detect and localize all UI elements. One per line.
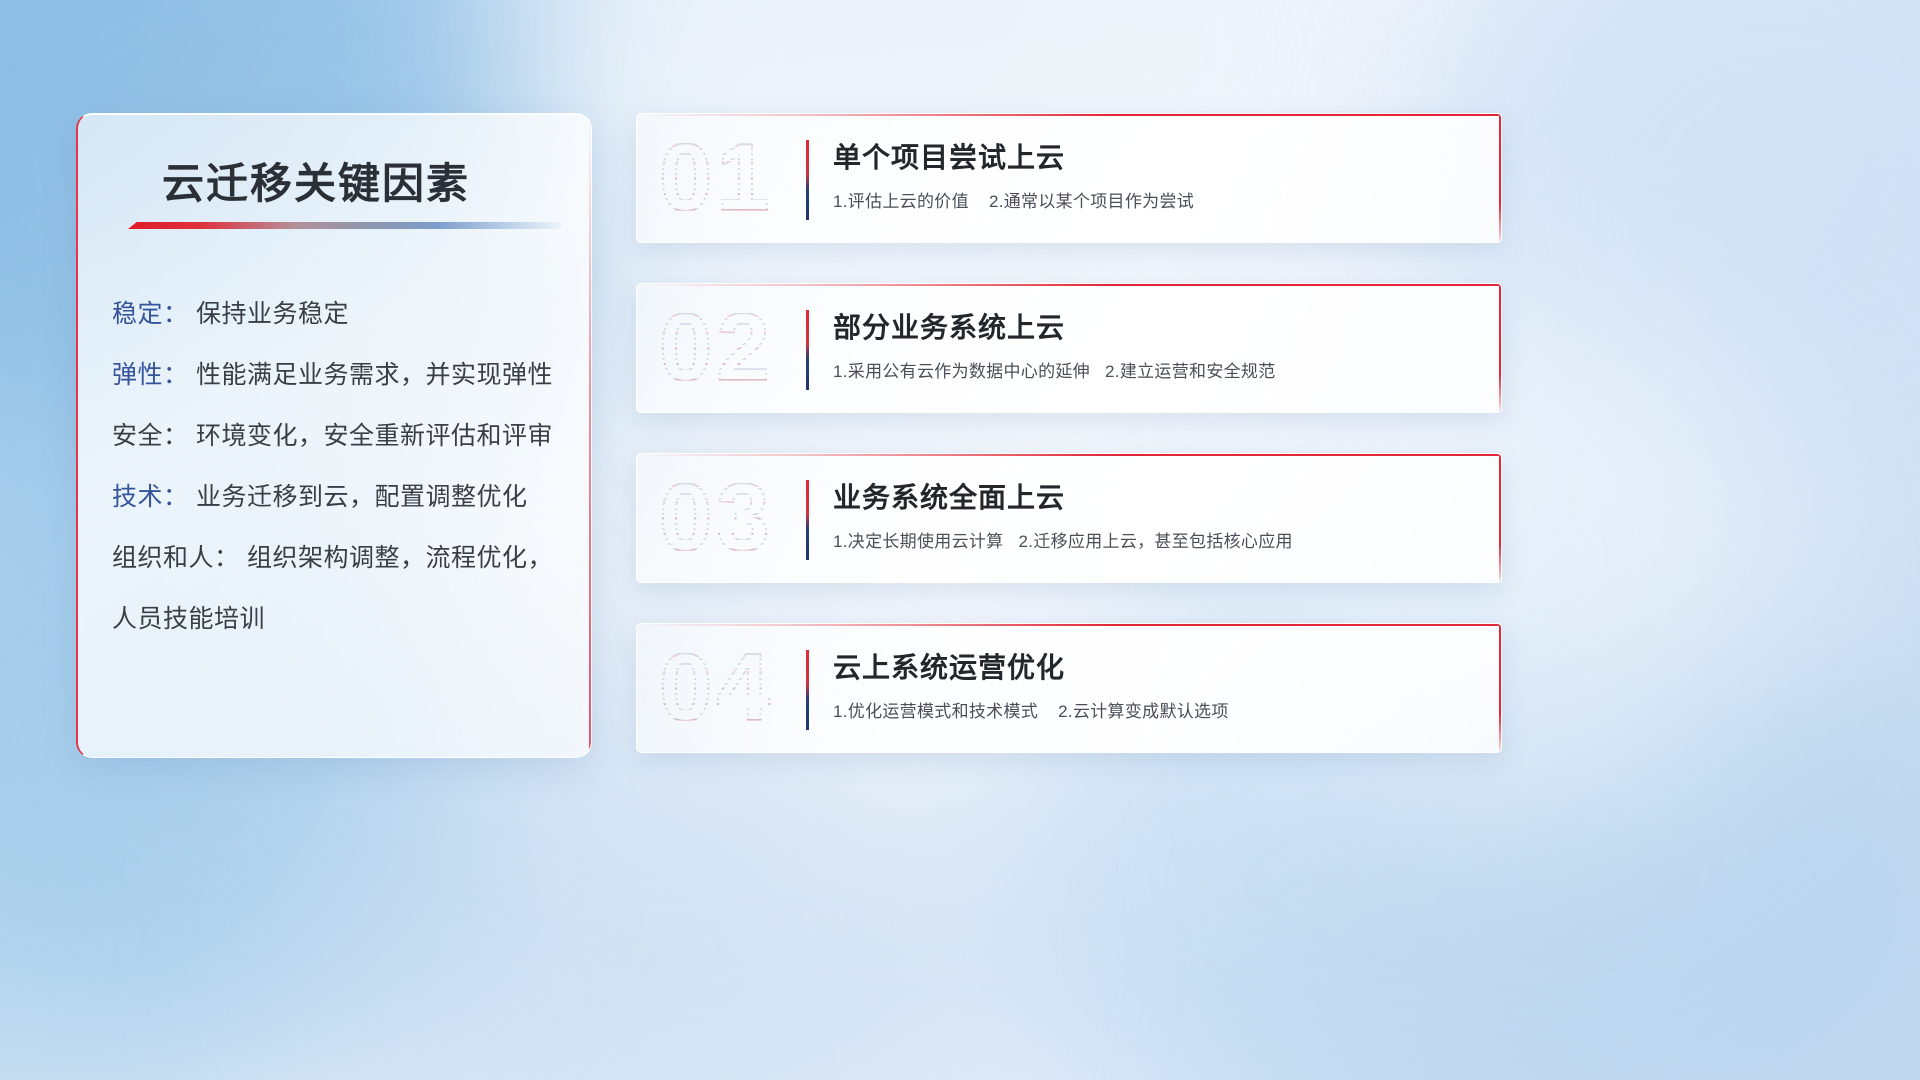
factor-label: 稳定： (112, 300, 189, 328)
stage-card[interactable]: 0404云上系统运营优化1.优化运营模式和技术模式 2.云计算变成默认选项 (636, 623, 1502, 753)
factor-description: 组织架构调整，流程优化， (247, 544, 553, 572)
factor-description: 人员技能培训 (112, 605, 265, 633)
title-underline-rule (128, 222, 568, 229)
stage-card[interactable]: 0202部分业务系统上云1.采用公有云作为数据中心的延伸 2.建立运营和安全规范 (636, 283, 1502, 413)
card-description: 1.优化运营模式和技术模式 2.云计算变成默认选项 (833, 700, 1477, 724)
card-divider-bar (806, 480, 809, 560)
card-description: 1.采用公有云作为数据中心的延伸 2.建立运营和安全规范 (833, 360, 1477, 384)
factor-label: 技术： (112, 483, 189, 511)
stage-card-list: 0101单个项目尝试上云1.评估上云的价值 2.通常以某个项目作为尝试0202部… (636, 113, 1502, 793)
card-title: 部分业务系统上云 (833, 308, 1477, 348)
card-title: 云上系统运营优化 (833, 648, 1477, 688)
factor-list: 稳定： 保持业务稳定弹性： 性能满足业务需求，并实现弹性安全： 环境变化，安全重… (112, 284, 569, 650)
card-divider-bar (806, 310, 809, 390)
factor-row: 稳定： 保持业务稳定 (112, 284, 569, 345)
key-factors-panel: 云迁移关键因素 稳定： 保持业务稳定弹性： 性能满足业务需求，并实现弹性安全： … (76, 113, 592, 758)
card-title: 业务系统全面上云 (833, 478, 1477, 518)
stage-card[interactable]: 0303业务系统全面上云1.决定长期使用云计算 2.迁移应用上云，甚至包括核心应… (636, 453, 1502, 583)
stage-number: 01 (659, 123, 774, 233)
factor-row: 弹性： 性能满足业务需求，并实现弹性 (112, 345, 569, 406)
factor-description: 环境变化，安全重新评估和评审 (196, 422, 553, 450)
factor-label: 组织和人： (112, 544, 240, 572)
card-body: 单个项目尝试上云1.评估上云的价值 2.通常以某个项目作为尝试 (833, 138, 1477, 214)
factor-row: 安全： 环境变化，安全重新评估和评审 (112, 406, 569, 467)
card-description: 1.评估上云的价值 2.通常以某个项目作为尝试 (833, 190, 1477, 214)
card-divider-bar (806, 140, 809, 220)
factor-description: 业务迁移到云，配置调整优化 (196, 483, 528, 511)
factor-row: 人员技能培训 (112, 589, 569, 650)
stage-number: 02 (659, 293, 774, 403)
factor-row: 技术： 业务迁移到云，配置调整优化 (112, 467, 569, 528)
stage-number: 03 (659, 463, 774, 573)
card-divider-bar (806, 650, 809, 730)
stage-card[interactable]: 0101单个项目尝试上云1.评估上云的价值 2.通常以某个项目作为尝试 (636, 113, 1502, 243)
factor-label: 安全： (112, 422, 189, 450)
slide-stage: 云迁移关键因素 稳定： 保持业务稳定弹性： 性能满足业务需求，并实现弹性安全： … (0, 0, 1920, 1080)
factor-label: 弹性： (112, 361, 189, 389)
card-body: 云上系统运营优化1.优化运营模式和技术模式 2.云计算变成默认选项 (833, 648, 1477, 724)
card-body: 业务系统全面上云1.决定长期使用云计算 2.迁移应用上云，甚至包括核心应用 (833, 478, 1477, 554)
factor-description: 性能满足业务需求，并实现弹性 (196, 361, 553, 389)
card-description: 1.决定长期使用云计算 2.迁移应用上云，甚至包括核心应用 (833, 530, 1477, 554)
card-title: 单个项目尝试上云 (833, 138, 1477, 178)
factor-description: 保持业务稳定 (196, 300, 349, 328)
stage-number: 04 (659, 633, 774, 743)
page-title: 云迁移关键因素 (162, 150, 470, 211)
card-body: 部分业务系统上云1.采用公有云作为数据中心的延伸 2.建立运营和安全规范 (833, 308, 1477, 384)
factor-row: 组织和人： 组织架构调整，流程优化， (112, 528, 569, 589)
